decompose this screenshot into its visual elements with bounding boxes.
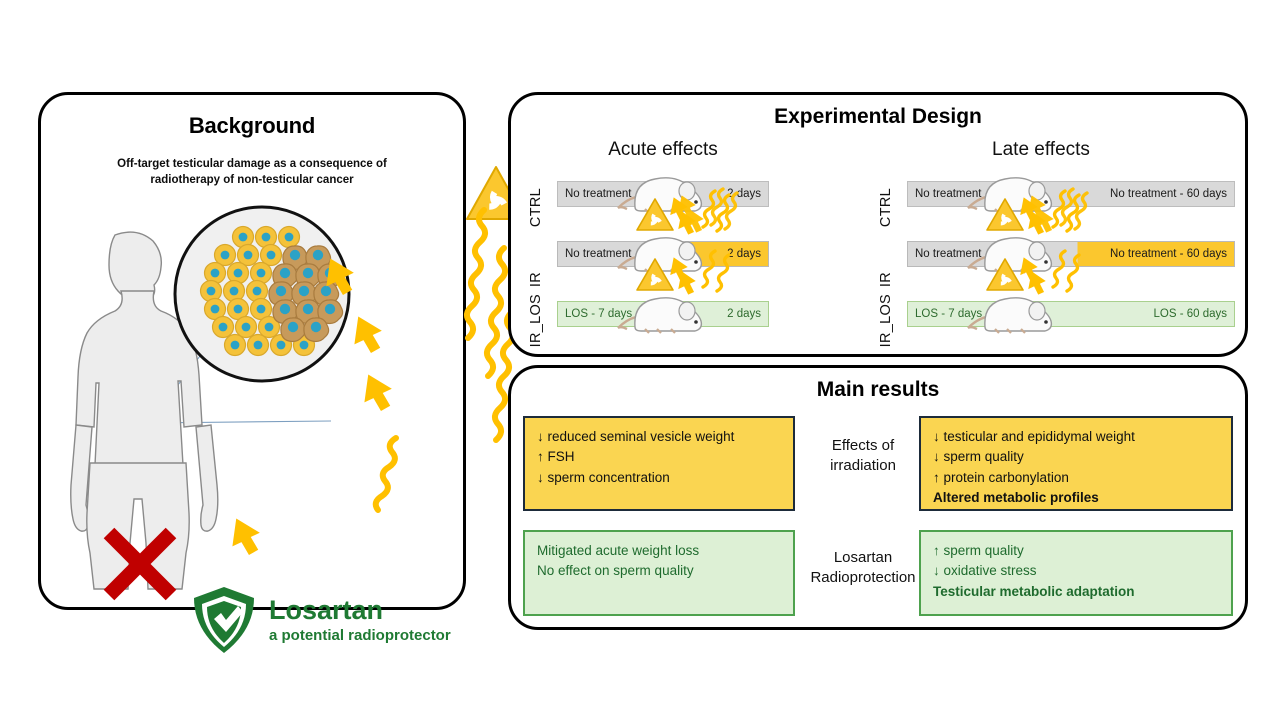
timeline-segment-right: No treatment - 60 days <box>1103 188 1234 200</box>
result-line: ↑ protein carbonylation <box>933 468 1219 488</box>
timeline-row: IR_LOSLOS - 7 days2 days <box>529 293 769 349</box>
radiation-wave-rays <box>216 190 516 590</box>
result-line: ↓ reduced seminal vesicle weight <box>537 427 781 447</box>
red-cross-mark-icon <box>101 525 179 603</box>
radiation-wave-rays <box>665 249 735 301</box>
result-box-irradiation-late: ↓ testicular and epididymal weight↓ sper… <box>919 416 1233 511</box>
timeline-group-label: IR <box>879 272 894 287</box>
losartan-logo: Losartan a potential radioprotector <box>191 585 451 655</box>
radiation-wave-rays <box>1015 189 1085 241</box>
graphical-abstract: Background Off-target testicular damage … <box>0 0 1280 720</box>
column-title-acute: Acute effects <box>563 139 763 161</box>
experimental-design-title: Experimental Design <box>511 105 1245 129</box>
losartan-tagline: a potential radioprotector <box>269 627 451 644</box>
result-line: ↓ sperm quality <box>933 447 1219 467</box>
results-label-losartan: Losartan Radioprotection <box>799 548 927 589</box>
result-box-losartan-acute: Mitigated acute weight lossNo effect on … <box>523 530 795 616</box>
radiation-wave-rays <box>665 189 735 241</box>
result-line: No effect on sperm quality <box>537 561 781 581</box>
main-results-title: Main results <box>511 378 1245 402</box>
experimental-design-panel: Experimental Design Acute effects Late e… <box>508 92 1248 357</box>
main-results-panel: Main results ↓ reduced seminal vesicle w… <box>508 365 1248 630</box>
result-line: ↓ oxidative stress <box>933 561 1219 581</box>
radiation-wave-rays <box>1015 249 1085 301</box>
result-line: ↓ testicular and epididymal weight <box>933 427 1219 447</box>
result-line: Altered metabolic profiles <box>933 488 1219 508</box>
background-subtitle: Off-target testicular damage as a conseq… <box>87 157 417 188</box>
result-box-losartan-late: ↑ sperm quality↓ oxidative stressTesticu… <box>919 530 1233 616</box>
timeline-group-label: CTRL <box>529 188 544 227</box>
losartan-name: Losartan <box>269 596 451 624</box>
timeline-row: IR_LOSLOS - 7 daysLOS - 60 days <box>879 293 1235 349</box>
timeline-segment-right: LOS - 60 days <box>1146 308 1234 320</box>
timeline-bar: LOS - 7 daysLOS - 60 days <box>907 301 1235 327</box>
result-line: Mitigated acute weight loss <box>537 541 781 561</box>
background-panel: Background Off-target testicular damage … <box>38 92 466 610</box>
results-label-irradiation: Effects of irradiation <box>803 436 923 477</box>
result-box-irradiation-acute: ↓ reduced seminal vesicle weight↑ FSH↓ s… <box>523 416 795 511</box>
timeline-group-label: IR <box>529 272 544 287</box>
shield-check-icon <box>191 585 257 655</box>
timeline-group-label: IR_LOS <box>529 294 544 347</box>
result-line: Testicular metabolic adaptation <box>933 582 1219 602</box>
result-line: ↓ sperm concentration <box>537 468 781 488</box>
background-title: Background <box>41 113 463 139</box>
result-line: ↑ FSH <box>537 447 781 467</box>
timeline-group-label: IR_LOS <box>879 294 894 347</box>
timeline-segment-right: No treatment - 60 days <box>1103 248 1234 260</box>
result-line: ↑ sperm quality <box>933 541 1219 561</box>
timeline-segment-right: 2 days <box>720 308 768 320</box>
column-title-late: Late effects <box>941 139 1141 161</box>
timeline-group-label: CTRL <box>879 188 894 227</box>
